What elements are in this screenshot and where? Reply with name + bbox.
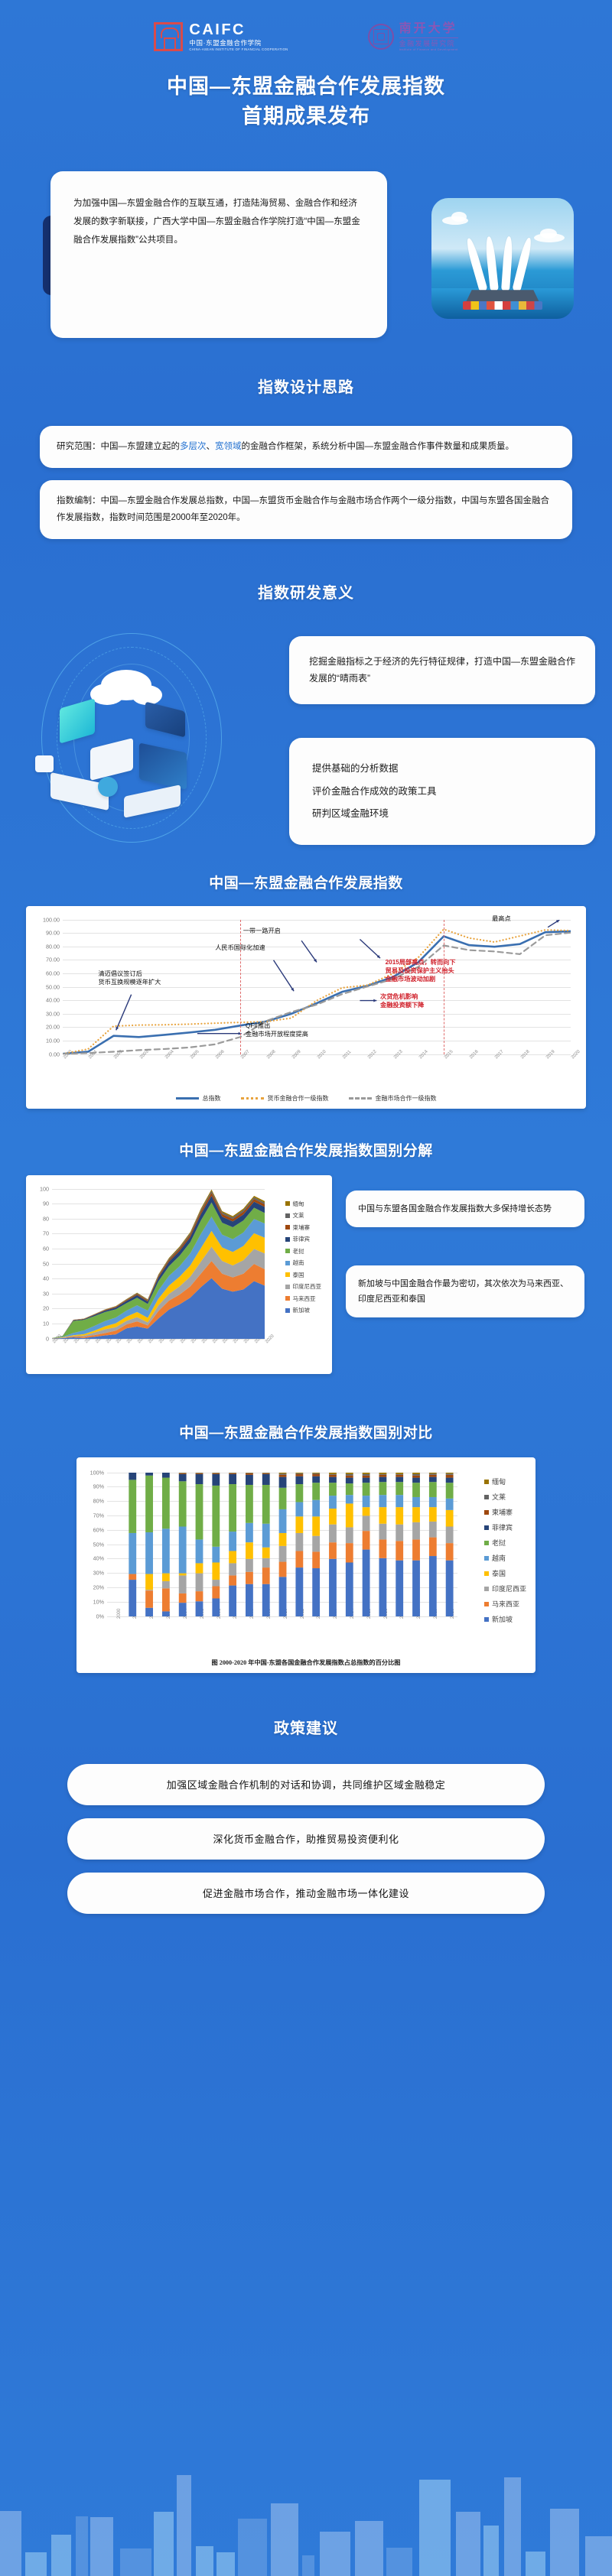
building-silhouette (216, 2552, 235, 2576)
bar-segment (212, 1598, 220, 1616)
bar-segment (429, 1482, 437, 1497)
annotation-chiang-mai: 清迈倡议签订后货币互换规模逐年扩大 (98, 970, 161, 986)
bar-segment (396, 1495, 403, 1507)
bar-segment (145, 1475, 153, 1532)
y-axis-tick: 0.00 (49, 1051, 60, 1057)
bar-segment (396, 1482, 403, 1495)
building-silhouette (120, 2548, 151, 2576)
bar-segment (379, 1558, 386, 1616)
section-policy: 政策建议 加强区域金融合作机制的对话和协调，共同维护区域金融稳定 深化货币金融合… (0, 1716, 612, 1914)
bar-segment (429, 1507, 437, 1522)
policy-card-1[interactable]: 加强区域金融合作机制的对话和协调，共同维护区域金融稳定 (67, 1764, 545, 1805)
y-axis-tick: 90 (43, 1200, 49, 1207)
bar-segment (379, 1476, 386, 1482)
legend-item-老挝[interactable]: 老挝 (285, 1249, 322, 1255)
bar-chart-title: 中国—东盟金融合作发展指数国别对比 (0, 1421, 612, 1442)
y-axis-tick: 70% (93, 1512, 104, 1519)
meaning-item-3: 研判区域金融环境 (312, 803, 572, 825)
area-chart-legend: 缅甸文莱柬埔寨菲律宾老挝越南泰国印度尼西亚马来西亚新加坡 (285, 1201, 322, 1320)
legend-item-印度尼西亚[interactable]: 印度尼西亚 (484, 1586, 526, 1593)
legend-label: 新加坡 (293, 1307, 311, 1314)
line-chart-title: 中国—东盟金融合作发展指数 (0, 872, 612, 892)
legend-item-文莱[interactable]: 文莱 (285, 1213, 322, 1219)
building-silhouette (419, 2480, 451, 2576)
bar-segment (196, 1573, 203, 1591)
bar-segment (446, 1474, 454, 1477)
section-bar-chart: 中国—东盟金融合作发展指数国别对比 0%10%20%30%40%50%60%70… (0, 1421, 612, 1673)
y-axis-tick: 30.00 (46, 1010, 60, 1017)
bar-segment (279, 1561, 287, 1577)
annotation-rmb: 人民币国际化加速 (215, 944, 265, 952)
page-title: 中国—东盟金融合作发展指数 首期成果发布 (0, 72, 612, 132)
y-axis-tick: 0 (46, 1335, 49, 1342)
legend-label: 老挝 (492, 1540, 506, 1547)
x-axis-tick: 2020 (571, 1049, 581, 1060)
event-marker-line (240, 920, 241, 1054)
design-card-scope: 研究范围：中国—东盟建立起的多层次、宽领域的金融合作框架，系统分析中国—东盟金融… (40, 426, 572, 467)
bar-segment (346, 1473, 353, 1474)
annotation-2015-peak: 2015局部高点，转而向下贸易及投资保护主义抬头金融市场波动加剧 (386, 958, 456, 983)
bar-segment (179, 1481, 187, 1526)
legend-swatch (285, 1225, 290, 1230)
policy-card-2[interactable]: 深化货币金融合作，助推贸易投资便利化 (67, 1818, 545, 1860)
building-silhouette (320, 2532, 351, 2576)
bar-segment (295, 1473, 303, 1473)
legend-item-越南[interactable]: 越南 (484, 1555, 526, 1562)
bar-segment (429, 1473, 437, 1473)
bar-segment (429, 1556, 437, 1616)
bar-segment (279, 1533, 287, 1546)
building-silhouette (177, 2475, 191, 2576)
bar-segment (279, 1509, 287, 1532)
hero-line-1: 中国—东盟金融合作发展指数 (0, 72, 612, 102)
gridline (63, 1054, 571, 1055)
bar-segment (346, 1473, 353, 1475)
legend-label: 新加坡 (492, 1616, 513, 1623)
bar-segment (412, 1497, 420, 1507)
bar-segment (312, 1476, 320, 1482)
bar-segment (145, 1590, 153, 1608)
bar-segment (363, 1531, 370, 1549)
bar-segment (446, 1526, 454, 1543)
hero-line-2: 首期成果发布 (0, 102, 612, 132)
bar-segment (145, 1473, 153, 1476)
bar-segment (329, 1524, 337, 1542)
building-silhouette (550, 2509, 579, 2576)
bar-segment (329, 1509, 337, 1525)
bar-segment (196, 1601, 203, 1616)
city-skyline-decoration (0, 2461, 612, 2576)
bar-segment (279, 1473, 287, 1473)
y-axis-tick: 10% (93, 1598, 104, 1605)
legend-swatch (484, 1495, 489, 1499)
bar-segment (312, 1568, 320, 1616)
area-chart-frame: 0102030405060708090100200020012002200320… (26, 1175, 332, 1374)
y-axis-tick: 40 (43, 1275, 49, 1282)
policy-text-3: 促进金融市场合作，推动金融市场一体化建设 (203, 1886, 409, 1900)
intro-card: 为加强中国—东盟金融合作的互联互通，打造陆海贸易、金融合作和经济发展的数字新联接… (50, 171, 387, 338)
bar-segment (212, 1473, 220, 1485)
bar-segment (196, 1563, 203, 1573)
legend-swatch (484, 1587, 489, 1591)
area-note-1-text: 中国与东盟各国金融合作发展指数大多保持增长态势 (358, 1201, 572, 1217)
bar-segment (412, 1539, 420, 1560)
line-series-总指数 (63, 931, 571, 1054)
legend-item-缅甸[interactable]: 缅甸 (285, 1201, 322, 1207)
meaning-card-primary: 挖掘金融指标之于经济的先行特征规律，打造中国—东盟金融合作发展的“晴雨表” (289, 636, 595, 705)
y-axis-tick: 30 (43, 1290, 49, 1297)
intro-block: 为加强中国—东盟金融合作的互联互通，打造陆海贸易、金融合作和经济发展的数字新联接… (26, 171, 586, 338)
y-axis-tick: 100 (40, 1185, 49, 1192)
y-axis-tick: 100.00 (43, 916, 60, 923)
caifc-en-name: CHINA-ASEAN INSTITUTE OF FINANCIAL COOPE… (189, 48, 288, 51)
bar-segment (346, 1483, 353, 1495)
legend-item-印度尼西亚[interactable]: 印度尼西亚 (285, 1284, 322, 1290)
legend-label: 菲律宾 (492, 1525, 513, 1532)
y-axis-tick: 50 (43, 1260, 49, 1267)
bar-segment (229, 1532, 236, 1551)
logo-bar: CAIFC 中国·东盟金融合作学院 CHINA-ASEAN INSTITUTE … (0, 0, 612, 50)
bar-segment (295, 1567, 303, 1616)
meaning-card-primary-text: 挖掘金融指标之于经济的先行特征规律，打造中国—东盟金融合作发展的“晴雨表” (309, 653, 575, 688)
y-axis-tick: 20% (93, 1584, 104, 1590)
y-axis-tick: 80% (93, 1498, 104, 1505)
legend-swatch (285, 1261, 290, 1265)
bar-segment (129, 1574, 136, 1580)
legend-label: 柬埔寨 (293, 1225, 311, 1231)
legend-label: 越南 (293, 1260, 304, 1266)
area-note-card-1: 中国与东盟各国金融合作发展指数大多保持增长态势 (346, 1191, 584, 1227)
infographic-page: CAIFC 中国·东盟金融合作学院 CHINA-ASEAN INSTITUTE … (0, 0, 612, 2576)
bar-segment (229, 1473, 236, 1483)
annotation-highest: 最高点 (492, 914, 511, 923)
bar-segment (196, 1539, 203, 1563)
legend-label: 文莱 (492, 1494, 506, 1501)
bar-segment (379, 1473, 386, 1474)
design-scope-prefix: 研究范围：中国—东盟建立起的 (57, 442, 180, 451)
bar-segment (212, 1473, 220, 1473)
area-chart-title: 中国—东盟金融合作发展指数国别分解 (0, 1139, 612, 1160)
legend-item-柬埔寨[interactable]: 柬埔寨 (285, 1225, 322, 1231)
bar-segment (229, 1473, 236, 1473)
y-axis-tick: 60.00 (46, 970, 60, 976)
bar-segment (295, 1502, 303, 1516)
bar-segment (129, 1480, 136, 1533)
building-silhouette (456, 2512, 480, 2576)
gridline (107, 1616, 457, 1617)
bar-segment (295, 1484, 303, 1502)
bar-segment (346, 1562, 353, 1616)
line-series-货币金融合作一级指数 (63, 929, 571, 1054)
y-axis-tick: 70 (43, 1230, 49, 1237)
design-highlight-1: 多层次 (180, 442, 207, 451)
bar-segment (162, 1473, 170, 1478)
bar-segment (329, 1476, 337, 1483)
bar-segment (312, 1483, 320, 1500)
legend-swatch (285, 1308, 290, 1313)
y-axis-tick: 80.00 (46, 943, 60, 950)
bar-segment (129, 1580, 136, 1616)
y-axis-tick: 40.00 (46, 997, 60, 1004)
bar-segment (312, 1473, 320, 1473)
y-axis-tick: 60 (43, 1245, 49, 1252)
area-chart-plot: 0102030405060708090100200020012002200320… (52, 1189, 265, 1339)
legend-swatch (285, 1201, 290, 1206)
building-silhouette (196, 2546, 213, 2576)
bar-segment (346, 1543, 353, 1562)
legend-item-缅甸[interactable]: 缅甸 (484, 1479, 526, 1486)
legend-swatch (484, 1525, 489, 1530)
bar-segment (379, 1482, 386, 1495)
annotation-subprime: 次贷危机影响金融投资额下降 (380, 992, 424, 1009)
legend-swatch (484, 1510, 489, 1515)
bar-segment (412, 1522, 420, 1539)
bar-segment (229, 1551, 236, 1563)
bar-segment (429, 1521, 437, 1537)
building-silhouette (25, 2552, 47, 2576)
meaning-item-2: 评价金融合作成效的政策工具 (312, 781, 572, 803)
bar-chart-caption: 图 2000-2020 年中国-东盟各国金融合作发展指数占总指数的百分比图 (83, 1658, 529, 1667)
bar-segment (179, 1575, 187, 1593)
bar-segment (363, 1473, 370, 1474)
intro-text: 为加强中国—东盟金融合作的互联互通，打造陆海贸易、金融合作和经济发展的数字新联接… (73, 194, 366, 249)
design-section-title: 指数设计思路 (0, 375, 612, 397)
legend-item-泰国[interactable]: 泰国 (484, 1571, 526, 1577)
bar-segment (312, 1499, 320, 1516)
bar-segment (162, 1588, 170, 1611)
bar-segment (145, 1532, 153, 1574)
building-silhouette (0, 2511, 21, 2576)
legend-item-文莱[interactable]: 文莱 (484, 1494, 526, 1501)
legend-swatch (484, 1617, 489, 1622)
bar-segment (363, 1515, 370, 1531)
building-silhouette (386, 2548, 413, 2576)
legend-label: 马来西亚 (492, 1601, 519, 1608)
legend-item-新加坡[interactable]: 新加坡 (285, 1307, 322, 1314)
y-axis-tick: 90% (93, 1483, 104, 1490)
building-silhouette (504, 2477, 520, 2576)
bar-segment (162, 1477, 170, 1528)
legend-item-泰国[interactable]: 泰国 (285, 1272, 322, 1278)
bar-segment (262, 1558, 270, 1567)
bar-segment (162, 1573, 170, 1580)
bar-segment (295, 1516, 303, 1533)
legend-item-马来西亚[interactable]: 马来西亚 (285, 1296, 322, 1302)
nankai-institute-name: 金融发展研究院 (399, 41, 458, 47)
bar-segment (295, 1473, 303, 1476)
design-scope-text: 研究范围：中国—东盟建立起的多层次、宽领域的金融合作框架，系统分析中国—东盟金融… (57, 438, 555, 455)
bar-segment (279, 1577, 287, 1616)
bar-segment (363, 1507, 370, 1515)
design-scope-mid: 、 (207, 442, 216, 451)
bar-segment (396, 1541, 403, 1560)
bar-segment (329, 1473, 337, 1474)
bar-segment (212, 1562, 220, 1580)
bar-segment (312, 1473, 320, 1476)
bar-segment (196, 1473, 203, 1483)
bar-chart-legend: 缅甸文莱柬埔寨菲律宾老挝越南泰国印度尼西亚马来西亚新加坡 (484, 1479, 526, 1632)
bar-segment (396, 1474, 403, 1476)
bar-segment (212, 1473, 220, 1473)
bar-segment (396, 1473, 403, 1474)
building-silhouette (302, 2555, 315, 2576)
legend-swatch (285, 1237, 290, 1242)
line-chart-frame: 0.0010.0020.0030.0040.0050.0060.0070.008… (26, 906, 586, 1109)
bar-segment (363, 1473, 370, 1475)
bar-segment (446, 1543, 454, 1561)
bar-segment (212, 1546, 220, 1562)
legend-item-越南[interactable]: 越南 (285, 1260, 322, 1266)
annotation-arrow (274, 960, 295, 990)
bar-segment (196, 1591, 203, 1601)
bar-segment (412, 1560, 420, 1616)
bar-segment (312, 1473, 320, 1473)
y-axis-tick: 80 (43, 1215, 49, 1222)
bar-segment (396, 1560, 403, 1616)
nanning-tower-image (431, 198, 574, 319)
bar-segment (246, 1584, 253, 1616)
bar-segment (262, 1485, 270, 1524)
policy-text-2: 深化货币金融合作，助推贸易投资便利化 (213, 1831, 399, 1846)
building-silhouette (238, 2519, 268, 2576)
y-axis-tick: 40% (93, 1555, 104, 1562)
bar-segment (346, 1527, 353, 1543)
bar-segment (229, 1563, 236, 1575)
legend-label: 菲律宾 (293, 1236, 311, 1243)
legend-market-index: 金融市场合作一级指数 (349, 1094, 437, 1103)
legend-label: 老挝 (293, 1249, 304, 1255)
annotation-belt-road: 一带一路开启 (243, 927, 281, 935)
bar-segment (329, 1474, 337, 1476)
y-axis-tick: 50.00 (46, 983, 60, 990)
bar-chart-frame: 0%10%20%30%40%50%60%70%80%90%100%2000200… (76, 1457, 535, 1673)
bar-segment (396, 1476, 403, 1482)
bar-segment (129, 1473, 136, 1480)
line-chart-plot: 0.0010.0020.0030.0040.0050.0060.0070.008… (63, 920, 571, 1054)
legend-swatch (285, 1272, 290, 1277)
bar-segment (379, 1473, 386, 1474)
line-chart-legend: 总指数 货币金融合作一级指数 金融市场合作一级指数 (32, 1094, 580, 1103)
bar-segment (162, 1611, 170, 1616)
bar-segment (329, 1558, 337, 1616)
bar-segment (262, 1547, 270, 1558)
bar-segment (379, 1523, 386, 1539)
y-axis-tick: 20 (43, 1305, 49, 1312)
bar-segment (262, 1473, 270, 1473)
bar-segment (196, 1484, 203, 1539)
bar-segment (363, 1496, 370, 1507)
bar-segment (379, 1539, 386, 1558)
bar-segment (179, 1593, 187, 1602)
bar-segment (363, 1475, 370, 1477)
bar-segment (262, 1473, 270, 1473)
legend-monetary-index: 货币金融合作一级指数 (241, 1094, 329, 1103)
bar-segment (179, 1473, 187, 1480)
legend-item-柬埔寨[interactable]: 柬埔寨 (484, 1509, 526, 1516)
bar-segment (412, 1473, 420, 1474)
policy-card-3[interactable]: 促进金融市场合作，推动金融市场一体化建设 (67, 1873, 545, 1914)
legend-label: 马来西亚 (293, 1296, 316, 1302)
bar-segment (346, 1495, 353, 1503)
y-axis-tick: 0% (96, 1613, 104, 1619)
bar-segment (262, 1567, 270, 1584)
section-index-meaning: 指数研发意义 挖掘金融指标之于经济的先行特征规律，打造中国—东盟金融合作发展的“… (0, 580, 612, 849)
bar-segment (246, 1473, 253, 1473)
bar-segment (363, 1477, 370, 1483)
legend-item-菲律宾[interactable]: 菲律宾 (484, 1525, 526, 1532)
bar-segment (412, 1483, 420, 1497)
bar-segment (279, 1476, 287, 1487)
bar-segment (312, 1551, 320, 1568)
bar-segment (229, 1585, 236, 1616)
nankai-cn-name: 南开大学 (399, 23, 458, 35)
bar-segment (162, 1580, 170, 1587)
legend-label: 缅甸 (492, 1479, 506, 1486)
legend-total-index: 总指数 (176, 1094, 221, 1103)
y-axis-tick: 70.00 (46, 957, 60, 963)
legend-swatch (484, 1556, 489, 1561)
bar-segment (246, 1485, 253, 1523)
caifc-cn-name: 中国·东盟金融合作学院 (189, 40, 288, 47)
bar-segment (295, 1476, 303, 1483)
bar-segment (396, 1473, 403, 1474)
bar-segment (179, 1603, 187, 1616)
bar-segment (246, 1473, 253, 1474)
line-series-金融市场合作一级指数 (63, 932, 571, 1054)
design-highlight-2: 宽领域 (215, 442, 242, 451)
bar-segment (295, 1551, 303, 1567)
legend-item-老挝[interactable]: 老挝 (484, 1540, 526, 1547)
bar-segment (196, 1473, 203, 1473)
legend-item-菲律宾[interactable]: 菲律宾 (285, 1236, 322, 1243)
bar-segment (346, 1503, 353, 1527)
bar-segment (412, 1507, 420, 1522)
meaning-section-title: 指数研发意义 (0, 580, 612, 603)
legend-label: 柬埔寨 (492, 1509, 513, 1516)
bar-segment (329, 1473, 337, 1474)
bar-segment (363, 1483, 370, 1496)
bar-segment (179, 1473, 187, 1473)
bar-segment (145, 1574, 153, 1590)
annotation-arrow (301, 940, 317, 962)
bar-segment (379, 1495, 386, 1507)
bar-segment (229, 1575, 236, 1585)
design-card-compilation: 指数编制：中国—东盟金融合作发展总指数，中国—东盟货币金融合作与金融市场合作两个… (40, 480, 572, 539)
legend-item-马来西亚[interactable]: 马来西亚 (484, 1601, 526, 1608)
bar-segment (446, 1498, 454, 1509)
legend-item-新加坡[interactable]: 新加坡 (484, 1616, 526, 1623)
section-index-design: 指数设计思路 研究范围：中国—东盟建立起的多层次、宽领域的金融合作框架，系统分析… (0, 375, 612, 538)
digital-finance-illustration (17, 627, 246, 849)
bar-segment (295, 1473, 303, 1473)
bar-segment (162, 1528, 170, 1573)
bar-segment (429, 1497, 437, 1507)
bar-segment (363, 1549, 370, 1616)
legend-swatch (484, 1602, 489, 1606)
bar-segment (212, 1485, 220, 1546)
meaning-item-1: 提供基础的分析数据 (312, 758, 572, 780)
bar-segment (446, 1473, 454, 1473)
nankai-en-name: Institute of Finance and Development (399, 48, 458, 51)
building-silhouette (271, 2503, 298, 2576)
bar-segment (229, 1484, 236, 1532)
caifc-seal-icon (154, 22, 183, 51)
legend-swatch (285, 1213, 290, 1218)
bar-segment (246, 1558, 253, 1571)
nankai-divider (399, 37, 458, 38)
bar-segment (412, 1475, 420, 1477)
bar-segment (429, 1474, 437, 1476)
